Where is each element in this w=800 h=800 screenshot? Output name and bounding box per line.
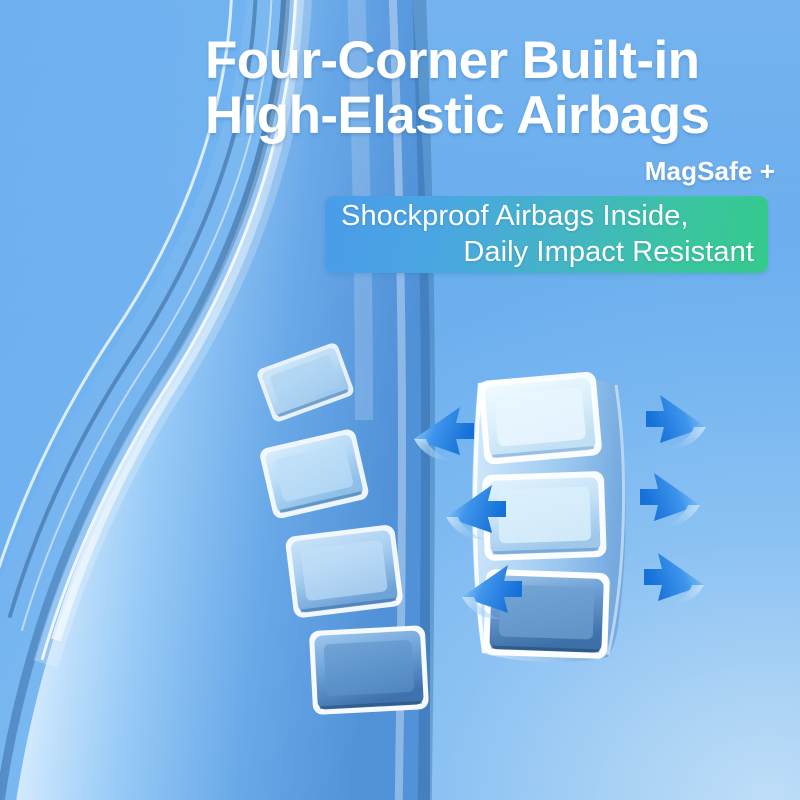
headline: Four-Corner Built-in High-Elastic Airbag… [205, 34, 775, 143]
case-airbag-pad [309, 625, 429, 715]
case-airbag-pad [285, 524, 404, 619]
headline-line-2: High-Elastic Airbags [205, 89, 775, 144]
banner-line-2: Daily Impact Resistant [463, 235, 754, 270]
headline-line-1: Four-Corner Built-in [205, 34, 775, 89]
diagram-airbag-pad [478, 371, 603, 465]
marketing-image: Four-Corner Built-in High-Elastic Airbag… [0, 0, 800, 800]
banner-line-1: Shockproof Airbags Inside, [341, 199, 689, 234]
airbag-compression-diagram [420, 375, 710, 665]
impact-arrow-right [640, 473, 700, 527]
impact-arrow-right [644, 553, 704, 607]
impact-arrow-left [414, 407, 474, 461]
magsafe-subhead: MagSafe + [205, 156, 775, 187]
impact-arrow-right [646, 395, 706, 449]
feature-banner: Shockproof Airbags Inside, Daily Impact … [325, 196, 768, 273]
